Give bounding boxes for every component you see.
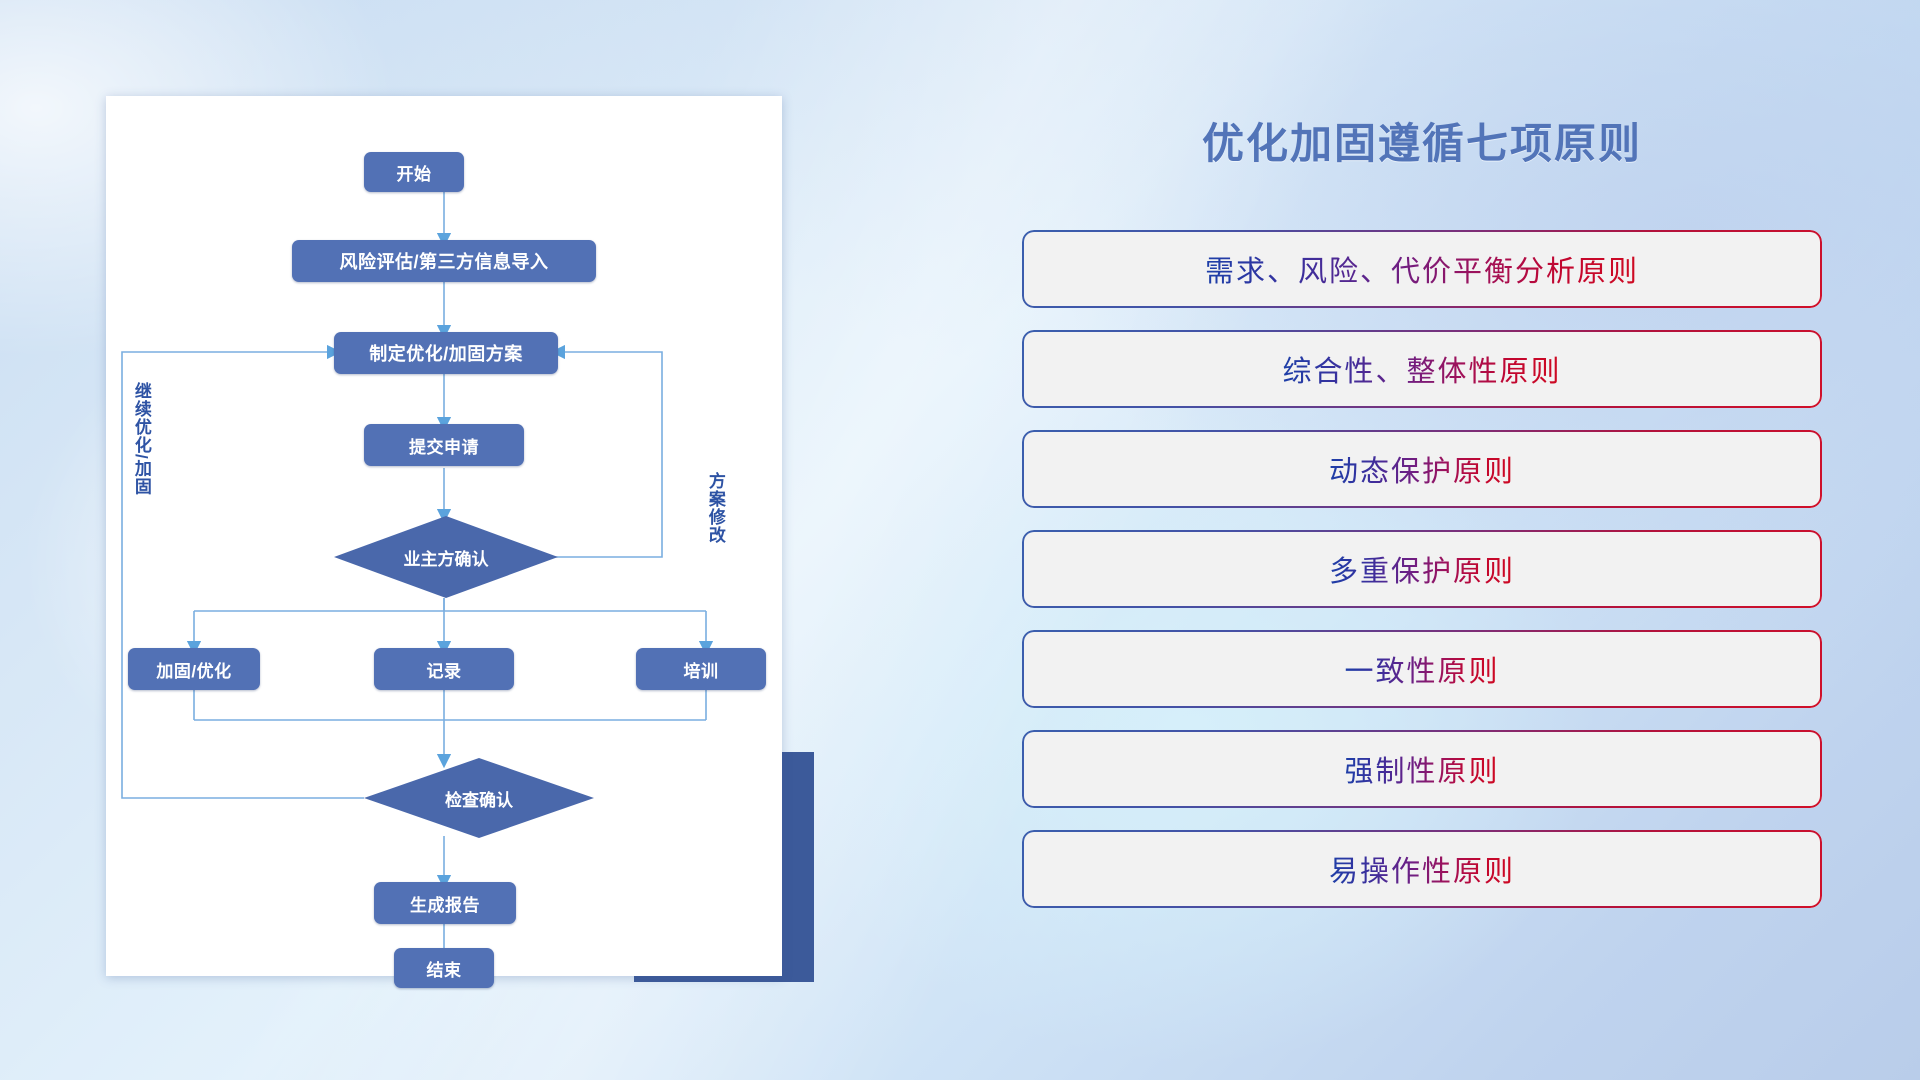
principle-item[interactable]: 需求、风险、代价平衡分析原则 bbox=[1022, 230, 1822, 308]
principle-item[interactable]: 综合性、整体性原则 bbox=[1022, 330, 1822, 408]
principle-item[interactable]: 易操作性原则 bbox=[1022, 830, 1822, 908]
flow-node-end[interactable]: 结束 bbox=[394, 948, 494, 988]
principle-item[interactable]: 多重保护原则 bbox=[1022, 530, 1822, 608]
principle-item-label: 易操作性原则 bbox=[1329, 848, 1515, 890]
principle-item-label: 多重保护原则 bbox=[1329, 548, 1515, 590]
principles-panel-title: 优化加固遵循七项原则 bbox=[1152, 110, 1692, 171]
principle-item[interactable]: 动态保护原则 bbox=[1022, 430, 1822, 508]
principle-item-label: 需求、风险、代价平衡分析原则 bbox=[1205, 248, 1639, 290]
flow-decision-owner-confirm[interactable]: 业主方确认 bbox=[334, 516, 558, 598]
flow-node-plan[interactable]: 制定优化/加固方案 bbox=[334, 332, 558, 374]
flow-edge-label-right-loop: 方案修改 bbox=[706, 472, 724, 544]
flow-node-training[interactable]: 培训 bbox=[636, 648, 766, 690]
flow-decision-check-confirm[interactable]: 检查确认 bbox=[364, 758, 594, 838]
flow-node-start-label: 开始 bbox=[397, 160, 432, 185]
flow-node-reinforce[interactable]: 加固/优化 bbox=[128, 648, 260, 690]
flow-node-risk-assessment[interactable]: 风险评估/第三方信息导入 bbox=[292, 240, 596, 282]
flow-node-submit-label: 提交申请 bbox=[409, 433, 479, 458]
principle-item[interactable]: 一致性原则 bbox=[1022, 630, 1822, 708]
flow-node-report-label: 生成报告 bbox=[410, 891, 480, 916]
flow-node-end-label: 结束 bbox=[427, 956, 462, 981]
principle-item-label: 强制性原则 bbox=[1344, 748, 1499, 790]
principle-item[interactable]: 强制性原则 bbox=[1022, 730, 1822, 808]
principle-item-label: 一致性原则 bbox=[1344, 648, 1499, 690]
flow-node-record[interactable]: 记录 bbox=[374, 648, 514, 690]
flow-node-record-label: 记录 bbox=[427, 657, 462, 682]
principle-item-label: 动态保护原则 bbox=[1329, 448, 1515, 490]
flow-node-risk-assessment-label: 风险评估/第三方信息导入 bbox=[340, 248, 549, 274]
principle-item-label: 综合性、整体性原则 bbox=[1282, 348, 1561, 390]
flow-decision-check-confirm-label: 检查确认 bbox=[445, 786, 513, 811]
principles-list: 需求、风险、代价平衡分析原则 综合性、整体性原则 动态保护原则 多重保护原则 一… bbox=[1022, 230, 1822, 930]
flow-node-reinforce-label: 加固/优化 bbox=[156, 657, 231, 682]
flow-node-plan-label: 制定优化/加固方案 bbox=[369, 340, 523, 366]
flow-decision-owner-confirm-label: 业主方确认 bbox=[404, 545, 489, 570]
flow-node-submit[interactable]: 提交申请 bbox=[364, 424, 524, 466]
flow-node-start[interactable]: 开始 bbox=[364, 152, 464, 192]
flow-node-report[interactable]: 生成报告 bbox=[374, 882, 516, 924]
flowchart-card: 开始 风险评估/第三方信息导入 制定优化/加固方案 提交申请 业主方确认 加固/… bbox=[106, 96, 782, 976]
flow-edge-label-left-loop: 继续优化/加固 bbox=[132, 382, 150, 496]
flow-node-training-label: 培训 bbox=[684, 657, 719, 682]
